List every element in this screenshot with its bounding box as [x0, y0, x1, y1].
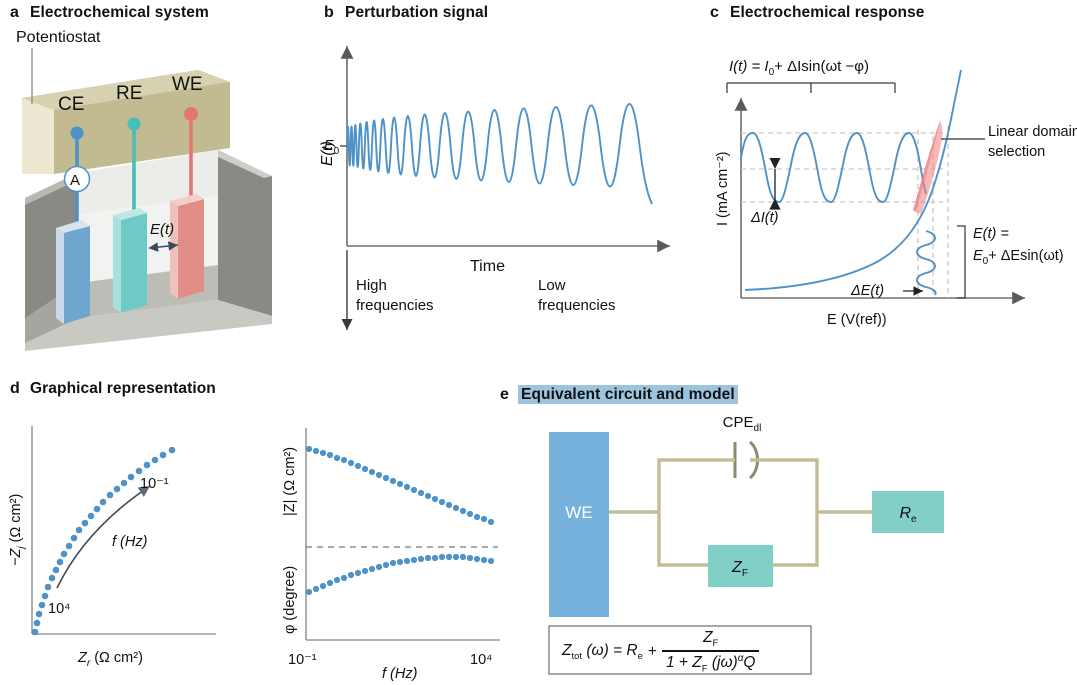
- panel-a-letter: a: [10, 4, 19, 22]
- electrode-re-label: RE: [116, 83, 142, 104]
- equation-fraction: ZF 1 + ZF (jω)αQ: [662, 630, 760, 674]
- we-block: [549, 432, 609, 617]
- potentiostat-label: Potentiostat: [16, 29, 101, 46]
- panel-e-letter: e: [500, 386, 509, 404]
- panel-c-side-bracket: [957, 226, 965, 298]
- nyquist-ylabel: −Zj (Ω cm²): [8, 494, 27, 566]
- model-equation: Ztot (ω) = Re + ZF 1 + ZF (jω)αQ: [562, 630, 802, 674]
- nyquist-plot: f (Hz) 10⁴ 10⁻¹ −Zj (Ω cm²) Zr (Ω cm²): [0, 406, 250, 676]
- wire-parallel-loop: [659, 460, 817, 512]
- panel-c-side-equation-line1: E(t) =: [973, 226, 1009, 242]
- panel-a: a Electrochemical system Potentiost: [0, 0, 330, 350]
- panel-b-low-freq-line1: Low: [538, 277, 566, 294]
- panel-c-letter: c: [710, 4, 719, 22]
- panel-e-title: Equivalent circuit and model: [518, 386, 738, 404]
- panel-b-letter: b: [324, 4, 334, 22]
- panel-d-letter: d: [10, 380, 20, 398]
- panel-b-xlabel: Time: [470, 258, 505, 275]
- panel-c-current-wave: [741, 133, 926, 202]
- bode-plot: |Z| (Ω cm²) φ (degree) 10⁻¹ 10⁴ f (Hz): [248, 406, 508, 676]
- panel-b-high-freq-line1: High: [356, 277, 387, 294]
- nyquist-arrow-label: f (Hz): [112, 534, 147, 550]
- panel-c-delta-i-label: ΔI(t): [750, 210, 778, 226]
- panel-c-range-bracket: [727, 83, 895, 93]
- panel-b: b Perturbation signal E(t) E0 Time High …: [320, 0, 700, 350]
- electrode-ce-label: CE: [58, 94, 84, 115]
- nyquist-freq-low: 10⁻¹: [140, 476, 169, 492]
- panel-c-top-equation: I(t) = I0+ ΔIsin(ωt −φ): [729, 58, 869, 78]
- bode-xtick-right: 10⁴: [470, 652, 492, 668]
- panel-e: e Equivalent circuit and model WE CPEdl …: [492, 372, 1077, 685]
- equation-plus: +: [648, 643, 657, 661]
- equation-denominator: 1 + ZF (jω)αQ: [662, 652, 760, 674]
- panel-c-voltage-wave: [917, 231, 936, 295]
- panel-a-et-label: E(t): [150, 221, 174, 238]
- panel-c-delta-e-label: ΔE(t): [850, 283, 884, 299]
- nyquist-xlabel: Zr (Ω cm²): [77, 650, 143, 669]
- bode-magnitude-points: [306, 446, 494, 525]
- panel-c-side-equation-line2: E0+ ΔEsin(ωt): [973, 248, 1064, 267]
- electrode-we-label: WE: [172, 74, 203, 95]
- panel-d-title: Graphical representation: [30, 380, 216, 398]
- panel-c: c Electrochemical response I(t) = I0+ ΔI…: [705, 0, 1077, 350]
- panel-e-title-text: Equivalent circuit and model: [518, 385, 738, 404]
- panel-c-ylabel: I (mA cm⁻²): [715, 151, 731, 226]
- panel-c-title: Electrochemical response: [730, 4, 925, 22]
- cpe-capacitor-symbol: [721, 442, 767, 478]
- bode-ylabel-phase: φ (degree): [282, 566, 298, 634]
- ammeter-label: A: [70, 172, 80, 189]
- bode-phase-points: [306, 554, 494, 595]
- equation-numerator: ZF: [697, 630, 724, 650]
- panel-a-title: Electrochemical system: [30, 4, 209, 22]
- panel-b-high-freq-line2: frequencies: [356, 297, 434, 314]
- panel-b-low-freq-line2: frequencies: [538, 297, 616, 314]
- bode-xtick-left: 10⁻¹: [288, 652, 317, 668]
- panel-d: d Graphical representation: [0, 372, 500, 685]
- nyquist-freq-high: 10⁴: [48, 601, 70, 617]
- bode-xlabel: f (Hz): [382, 666, 417, 682]
- cpe-label: CPEdl: [723, 414, 762, 434]
- bode-ylabel-magnitude: |Z| (Ω cm²): [282, 447, 298, 516]
- panel-b-title: Perturbation signal: [345, 4, 488, 22]
- panel-c-xlabel: E (V(ref)): [827, 312, 887, 328]
- we-block-label: WE: [565, 503, 592, 522]
- panel-b-waveform: [347, 104, 652, 204]
- panel-c-callout-line2: selection: [988, 144, 1045, 160]
- panel-c-callout-line1: Linear domain: [988, 124, 1077, 140]
- equation-lhs: Ztot (ω) = Re: [562, 642, 643, 662]
